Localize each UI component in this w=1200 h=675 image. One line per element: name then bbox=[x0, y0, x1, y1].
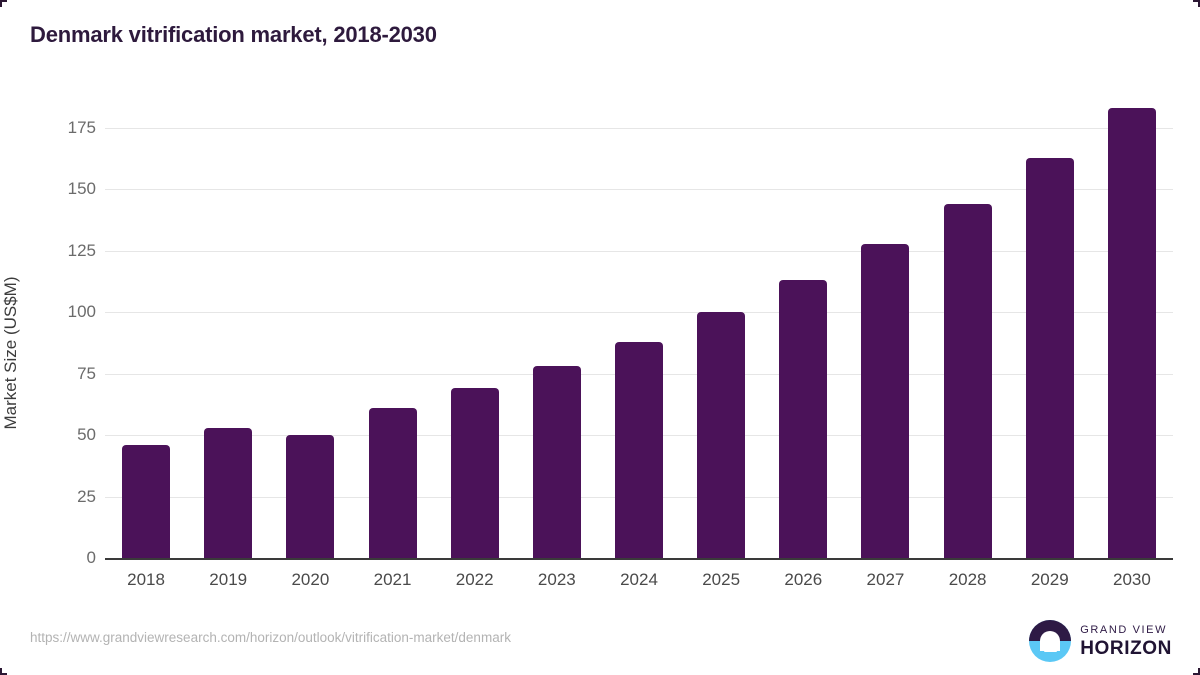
crop-corner-top-right bbox=[1193, 0, 1200, 7]
x-axis-tick-label: 2030 bbox=[1092, 570, 1172, 590]
bar[interactable] bbox=[533, 366, 581, 558]
bar[interactable] bbox=[615, 342, 663, 558]
x-axis-tick-label: 2027 bbox=[845, 570, 925, 590]
logo-line-1: GRAND VIEW bbox=[1080, 625, 1172, 636]
bar[interactable] bbox=[779, 280, 827, 558]
bar[interactable] bbox=[1026, 158, 1074, 559]
x-axis-tick-label: 2020 bbox=[270, 570, 350, 590]
x-axis-tick-label: 2019 bbox=[188, 570, 268, 590]
x-axis-tick-label: 2028 bbox=[928, 570, 1008, 590]
chart-title: Denmark vitrification market, 2018-2030 bbox=[30, 22, 437, 48]
bar-series bbox=[105, 128, 1173, 558]
bar[interactable] bbox=[204, 428, 252, 558]
y-axis-tick-label: 100 bbox=[26, 302, 96, 322]
x-axis-tick-label: 2022 bbox=[435, 570, 515, 590]
x-axis-tick-label: 2025 bbox=[681, 570, 761, 590]
y-axis-tick-label: 25 bbox=[26, 487, 96, 507]
chart-screenshot: Denmark vitrification market, 2018-2030 … bbox=[0, 0, 1200, 675]
source-url[interactable]: https://www.grandviewresearch.com/horizo… bbox=[30, 630, 511, 645]
bar[interactable] bbox=[861, 244, 909, 559]
bar[interactable] bbox=[451, 388, 499, 558]
y-axis-tick-label: 0 bbox=[26, 548, 96, 568]
x-axis-tick-label: 2021 bbox=[353, 570, 433, 590]
bar[interactable] bbox=[369, 408, 417, 558]
grand-view-horizon-logo: GRAND VIEW HORIZON bbox=[1029, 620, 1172, 662]
crop-corner-top-left bbox=[0, 0, 7, 7]
x-axis-tick-label: 2026 bbox=[763, 570, 843, 590]
logo-line-2: HORIZON bbox=[1080, 639, 1172, 658]
bar[interactable] bbox=[697, 312, 745, 558]
bar[interactable] bbox=[286, 435, 334, 558]
bar[interactable] bbox=[1108, 108, 1156, 558]
logo-wordmark: GRAND VIEW HORIZON bbox=[1080, 625, 1172, 658]
y-axis-tick-label: 175 bbox=[26, 118, 96, 138]
y-axis-tick-label: 50 bbox=[26, 425, 96, 445]
logo-sun-dome bbox=[1040, 631, 1060, 651]
y-axis-tick-label: 75 bbox=[26, 364, 96, 384]
x-axis-line bbox=[105, 558, 1173, 560]
bar[interactable] bbox=[122, 445, 170, 558]
y-axis-tick-label: 125 bbox=[26, 241, 96, 261]
x-axis-tick-label: 2023 bbox=[517, 570, 597, 590]
x-axis-tick-label: 2018 bbox=[106, 570, 186, 590]
horizon-sun-icon bbox=[1029, 620, 1071, 662]
crop-corner-bottom-right bbox=[1193, 668, 1200, 675]
x-axis-tick-label: 2024 bbox=[599, 570, 679, 590]
logo-ray-2 bbox=[1044, 650, 1057, 653]
y-axis-tick-label: 150 bbox=[26, 179, 96, 199]
x-axis-tick-label: 2029 bbox=[1010, 570, 1090, 590]
y-axis-title: Market Size (US$M) bbox=[1, 103, 21, 603]
crop-corner-bottom-left bbox=[0, 668, 7, 675]
logo-ray-1 bbox=[1040, 645, 1060, 648]
bar[interactable] bbox=[944, 204, 992, 558]
